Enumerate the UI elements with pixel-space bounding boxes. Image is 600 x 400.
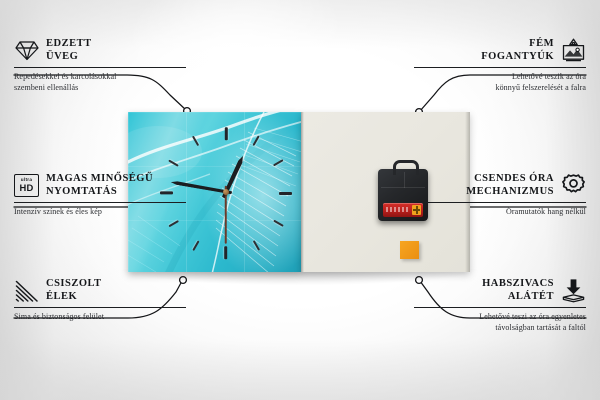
feature-desc-line1: Lehetővé teszik az óra xyxy=(512,72,586,81)
badge-bottom-text: HD xyxy=(20,183,34,192)
feature-silent-clock-mechanism: CSENDES ÓRA MECHANIZMUS Óramutatók hang … xyxy=(414,173,586,218)
feature-title-line2: MECHANIZMUS xyxy=(466,186,554,197)
feature-desc-line2: távolságban tartását a faltól xyxy=(495,323,586,332)
feature-polished-edges: CSISZOLT ÉLEK Sima és biztonságos felüle… xyxy=(14,278,186,323)
feature-title-line1: MAGAS MINŐSÉGŰ xyxy=(46,173,153,184)
feature-title-line1: EDZETT xyxy=(46,38,92,49)
clock-center-cap xyxy=(223,189,229,195)
feature-title-line2: ÉLEK xyxy=(46,291,77,302)
feature-divider xyxy=(14,307,186,308)
feature-metal-handles: FÉM FOGANTYÚK Lehetővé teszik az óra kön… xyxy=(414,38,586,93)
feature-desc-line1: Óramutatók hang nélkül xyxy=(506,207,586,216)
feature-title-line2: NYOMTATÁS xyxy=(46,186,117,197)
feature-foam-pad: HABSZIVACS ALÁTÉT Lehetővé teszi az óra … xyxy=(414,278,586,333)
diamond-icon xyxy=(14,38,39,63)
feature-divider xyxy=(414,67,586,68)
feature-desc-line2: szembeni ellenállás xyxy=(14,83,78,92)
picture-hanger-icon xyxy=(561,38,586,63)
infographic-canvas: EDZETT ÜVEG Repedésekkel és karcolásokka… xyxy=(0,0,600,400)
feature-title-line1: CSISZOLT xyxy=(46,278,102,289)
feature-title-line1: CSENDES ÓRA xyxy=(474,173,554,184)
feature-divider xyxy=(414,307,586,308)
feature-title-line2: ÜVEG xyxy=(46,51,78,62)
feature-title-line1: HABSZIVACS xyxy=(482,278,554,289)
feature-desc-line2: könnyű felszerelését a falra xyxy=(495,83,586,92)
arrow-down-pad-icon xyxy=(561,278,586,303)
feature-title-line2: ALÁTÉT xyxy=(508,291,554,302)
beveled-edge-icon xyxy=(14,278,39,303)
gear-icon xyxy=(561,173,586,198)
feature-title-line2: FOGANTYÚK xyxy=(481,51,554,62)
feature-divider xyxy=(14,67,186,68)
feature-high-quality-print: ultra HD MAGAS MINŐSÉGŰ NYOMTATÁS Intenz… xyxy=(14,173,186,218)
feature-desc-line1: Intenzív színek és éles kép xyxy=(14,207,102,216)
foam-spacer-pad xyxy=(400,241,419,259)
feature-title-line1: FÉM xyxy=(529,38,554,49)
feature-desc-line1: Repedésekkel és karcolásokkal xyxy=(14,72,116,81)
feature-desc-line1: Sima és biztonságos felület xyxy=(14,312,104,321)
feature-divider xyxy=(14,202,186,203)
feature-divider xyxy=(414,202,586,203)
ultra-hd-badge-icon: ultra HD xyxy=(14,173,39,198)
feature-tempered-glass: EDZETT ÜVEG Repedésekkel és karcolásokka… xyxy=(14,38,186,93)
feature-desc-line1: Lehetővé teszi az óra egyenletes xyxy=(479,312,586,321)
